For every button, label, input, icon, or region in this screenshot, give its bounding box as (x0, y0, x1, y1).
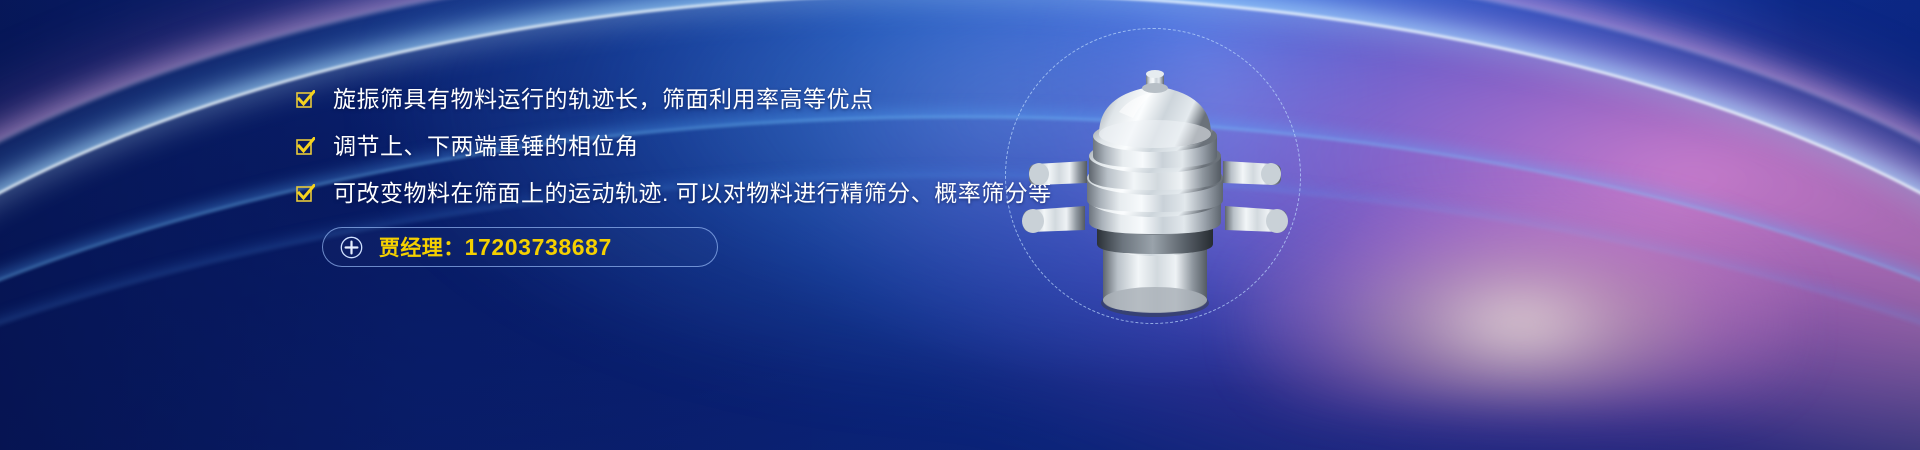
product-showcase (1005, 28, 1305, 330)
checkbox-checked-icon (296, 137, 315, 156)
feature-text: 调节上、下两端重锤的相位角 (333, 135, 639, 158)
contact-number: 17203738687 (465, 234, 612, 260)
feature-item: 调节上、下两端重锤的相位角 (296, 135, 1056, 158)
vibrating-sieve-machine (1015, 60, 1295, 322)
feature-item: 旋振筛具有物料运行的轨迹长，筛面利用率高等优点 (296, 88, 1056, 111)
feature-text: 旋振筛具有物料运行的轨迹长，筛面利用率高等优点 (333, 88, 874, 111)
feature-item: 可改变物料在筛面上的运动轨迹. 可以对物料进行精筛分、概率筛分等 (296, 182, 1056, 205)
contact-phone-button[interactable]: 贾经理：17203738687 (322, 227, 718, 267)
checkbox-checked-icon (296, 90, 315, 109)
feature-list: 旋振筛具有物料运行的轨迹长，筛面利用率高等优点 调节上、下两端重锤的相位角 可改… (296, 88, 1056, 267)
checkbox-checked-icon (296, 184, 315, 203)
feature-text: 可改变物料在筛面上的运动轨迹. 可以对物料进行精筛分、概率筛分等 (333, 182, 1052, 205)
promo-banner: 旋振筛具有物料运行的轨迹长，筛面利用率高等优点 调节上、下两端重锤的相位角 可改… (0, 0, 1920, 450)
contact-label: 贾经理：17203738687 (379, 232, 612, 262)
contact-name: 贾经理： (379, 237, 465, 260)
plus-circle-icon (340, 236, 363, 259)
